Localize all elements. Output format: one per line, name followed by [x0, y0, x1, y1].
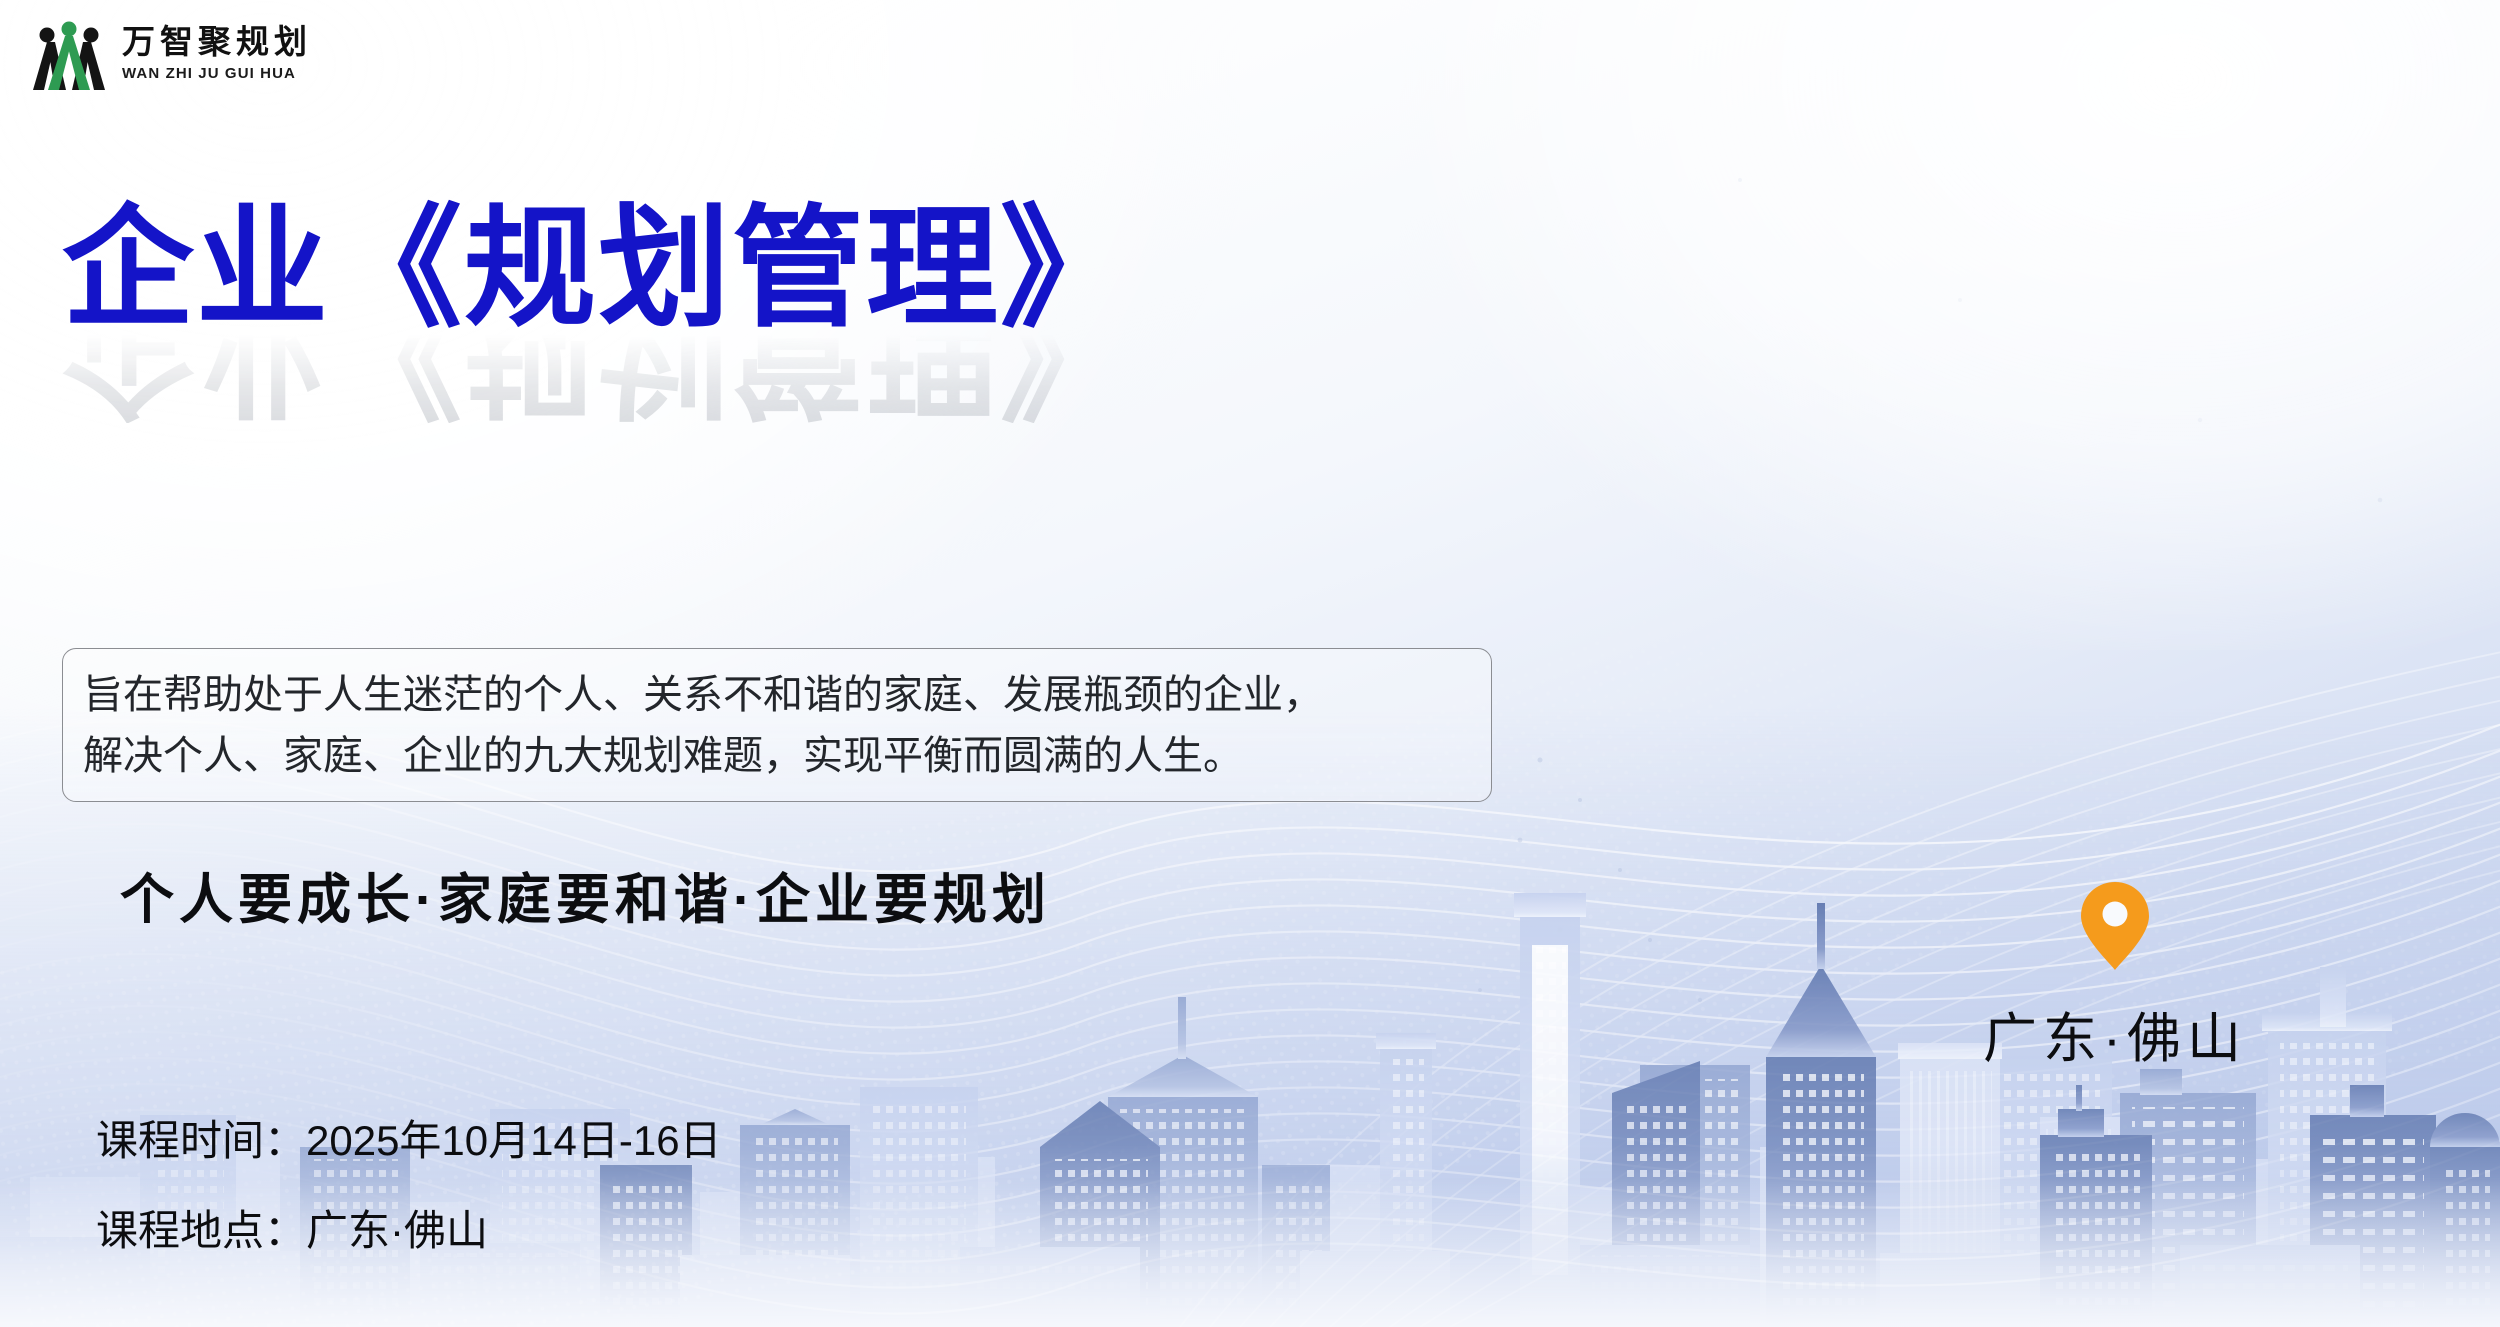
description-line-1: 旨在帮助处于人生迷茫的个人、关系不和谐的家庭、发展瓶颈的企业，	[83, 665, 1473, 726]
brand-name-pinyin: WAN ZHI JU GUI HUA	[122, 66, 312, 81]
page-title-reflection: 企业《规划管理》	[62, 327, 1112, 423]
top-right-glow	[1400, 0, 2500, 650]
three-figures-mark-icon	[30, 18, 108, 90]
location-group: 广东·佛山	[1955, 880, 2275, 1073]
location-label: 广东·佛山	[1955, 994, 2275, 1073]
course-place-line: 课程地点：广东·佛山	[96, 1210, 722, 1252]
hero-title-block: 企业《规划管理》 企业《规划管理》	[62, 200, 1112, 423]
description-box: 旨在帮助处于人生迷茫的个人、关系不和谐的家庭、发展瓶颈的企业， 解决个人、家庭、…	[62, 648, 1492, 802]
brand-wordmark: 万智聚规划 WAN ZHI JU GUI HUA	[122, 27, 312, 81]
course-info: 课程时间：2025年10月14日-16日 课程地点：广东·佛山	[96, 1120, 722, 1252]
description-line-2: 解决个人、家庭、企业的九大规划难题，实现平衡而圆满的人生。	[83, 726, 1473, 787]
page-title: 企业《规划管理》	[62, 200, 1112, 339]
poster-root: 万智聚规划 WAN ZHI JU GUI HUA 企业《规划管理》 企业《规划管…	[0, 0, 2500, 1327]
brand-name-cn: 万智聚规划	[122, 27, 312, 60]
course-time-line: 课程时间：2025年10月14日-16日	[96, 1120, 722, 1162]
map-pin-icon	[2079, 880, 2151, 972]
brand-logo[interactable]: 万智聚规划 WAN ZHI JU GUI HUA	[30, 18, 312, 90]
tagline: 个人要成长·家庭要和谐·企业要规划	[120, 855, 1051, 934]
